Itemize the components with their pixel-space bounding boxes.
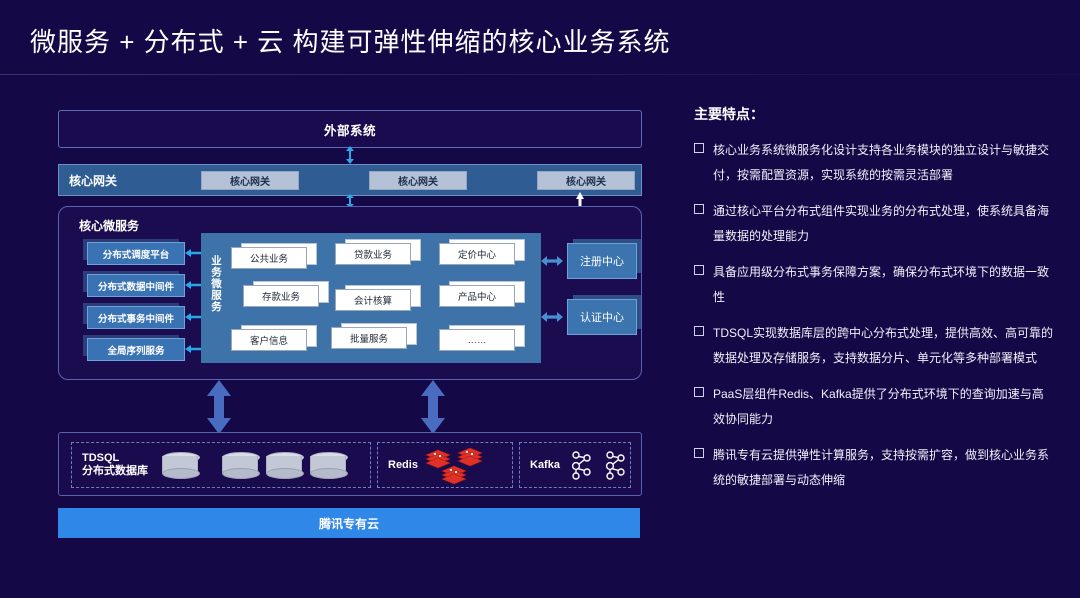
database-cylinders	[162, 452, 346, 478]
architecture-diagram: 外部系统 核心网关 核心网关 核心网关 核心网关 核心微服务 分布式调度平台	[58, 110, 640, 540]
features-title: 主要特点：	[694, 104, 1054, 124]
business-service-label: 贷款业务	[335, 243, 411, 265]
business-service-label: 定价中心	[439, 243, 515, 265]
bullet-square-icon	[694, 387, 704, 397]
tdsql-label-line2: 分布式数据库	[82, 465, 148, 477]
auth-center-card: 认证中心	[567, 299, 635, 333]
feature-item: 通过核心平台分布式组件实现业务的分布式处理，使系统具备海量数据的处理能力	[694, 199, 1054, 249]
external-system-box: 外部系统	[58, 110, 642, 148]
feature-item: TDSQL实现数据库层的跨中心分布式处理，提供高效、高可靠的数据处理及存储服务，…	[694, 321, 1054, 371]
tencent-cloud-bar: 腾讯专有云	[58, 508, 640, 538]
feature-item: 腾讯专有云提供弹性计算服务，支持按需扩容，做到核心业务系统的敏捷部署与动态伸缩	[694, 443, 1054, 493]
business-service-card: 客户信息	[231, 329, 305, 349]
business-service-label: 客户信息	[231, 329, 307, 351]
database-cylinder-icon	[310, 452, 346, 478]
business-service-card: 定价中心	[439, 243, 513, 263]
core-microservice-title: 核心微服务	[79, 217, 139, 234]
core-component-label: 分布式事务中间件	[87, 306, 185, 329]
core-component-label: 分布式调度平台	[87, 242, 185, 265]
bullet-square-icon	[694, 143, 704, 153]
page-title: 微服务 + 分布式 + 云 构建可弹性伸缩的核心业务系统	[30, 22, 671, 59]
core-gateway-title: 核心网关	[69, 172, 143, 189]
business-service-card: 批量服务	[331, 327, 405, 347]
business-microservice-panel: 业务微服务 公共业务 贷款业务 定价中心 存款业务	[201, 233, 541, 363]
bullet-square-icon	[694, 265, 704, 275]
core-component-card: 分布式事务中间件	[83, 303, 179, 324]
registry-center-card: 注册中心	[567, 243, 635, 277]
business-service-card: 会计核算	[335, 289, 409, 309]
database-cylinder-icon	[162, 452, 198, 478]
core-gateway-bar: 核心网关 核心网关 核心网关 核心网关	[58, 164, 642, 196]
feature-text: 通过核心平台分布式组件实现业务的分布式处理，使系统具备海量数据的处理能力	[713, 199, 1054, 249]
feature-text: 腾讯专有云提供弹性计算服务，支持按需扩容，做到核心业务系统的敏捷部署与动态伸缩	[713, 443, 1054, 493]
feature-text: TDSQL实现数据库层的跨中心分布式处理，提供高效、高可靠的数据处理及存储服务，…	[713, 321, 1054, 371]
redis-label: Redis	[388, 459, 418, 472]
registry-center-label: 注册中心	[567, 243, 637, 279]
kafka-logo-icon	[604, 450, 628, 480]
bullet-square-icon	[694, 204, 704, 214]
business-service-card: 公共业务	[231, 247, 305, 267]
gateway-node-3: 核心网关	[537, 171, 635, 190]
data-layer-panel: TDSQL 分布式数据库 Redis	[58, 432, 642, 496]
core-microservice-panel: 核心微服务 分布式调度平台 分布式数据中间件 分布式事务中间件 全局序列服务	[58, 206, 642, 380]
business-service-label: ……	[439, 329, 515, 351]
registry-link-arrow-icon	[541, 254, 563, 266]
redis-logo-icon	[424, 445, 486, 485]
redis-box: Redis	[377, 442, 513, 488]
gateway-node-1: 核心网关	[201, 171, 299, 190]
business-service-card: 产品中心	[439, 285, 513, 305]
core-to-data-arrow-icon	[206, 380, 232, 434]
feature-text: 具备应用级分布式事务保障方案，确保分布式环境下的数据一致性	[713, 260, 1054, 310]
business-service-label: 会计核算	[335, 289, 411, 311]
kafka-logo-group	[570, 450, 628, 480]
business-service-label: 批量服务	[331, 327, 407, 349]
bullet-square-icon	[694, 326, 704, 336]
kafka-label: Kafka	[530, 459, 560, 472]
tdsql-label-line1: TDSQL	[82, 452, 119, 464]
feature-item: PaaS层组件Redis、Kafka提供了分布式环境下的查询加速与高效协同能力	[694, 382, 1054, 432]
auth-link-arrow-icon	[541, 310, 563, 322]
database-cylinder-icon	[266, 452, 302, 478]
core-component-card: 全局序列服务	[83, 335, 179, 356]
feature-item: 具备应用级分布式事务保障方案，确保分布式环境下的数据一致性	[694, 260, 1054, 310]
business-service-label: 存款业务	[243, 285, 319, 307]
business-service-card: 存款业务	[243, 285, 317, 305]
feature-text: PaaS层组件Redis、Kafka提供了分布式环境下的查询加速与高效协同能力	[713, 382, 1054, 432]
kafka-logo-icon	[570, 450, 594, 480]
business-service-card: 贷款业务	[335, 243, 409, 263]
business-service-label: 公共业务	[231, 247, 307, 269]
external-system-label: 外部系统	[324, 120, 376, 139]
features-panel: 主要特点： 核心业务系统微服务化设计支持各业务模块的独立设计与敏捷交付，按需配置…	[694, 104, 1054, 504]
kafka-box: Kafka	[519, 442, 631, 488]
business-microservice-label: 业务微服务	[209, 255, 223, 313]
database-cylinder-icon	[222, 452, 258, 478]
title-divider	[0, 74, 1080, 75]
core-component-label: 分布式数据中间件	[87, 274, 185, 297]
business-service-label: 产品中心	[439, 285, 515, 307]
core-component-card: 分布式调度平台	[83, 239, 179, 260]
core-component-label: 全局序列服务	[87, 338, 185, 361]
core-to-data-arrow-icon	[420, 380, 446, 434]
gateway-node-2: 核心网关	[369, 171, 467, 190]
business-service-card: ……	[439, 329, 513, 349]
business-service-grid: 公共业务 贷款业务 定价中心 存款业务 会计核算	[231, 243, 533, 355]
bullet-square-icon	[694, 448, 704, 458]
feature-item: 核心业务系统微服务化设计支持各业务模块的独立设计与敏捷交付，按需配置资源，实现系…	[694, 138, 1054, 188]
feature-text: 核心业务系统微服务化设计支持各业务模块的独立设计与敏捷交付，按需配置资源，实现系…	[713, 138, 1054, 188]
external-to-gateway-arrow-icon	[345, 146, 355, 164]
tdsql-box: TDSQL 分布式数据库	[71, 442, 371, 488]
auth-center-label: 认证中心	[567, 299, 637, 335]
core-component-card: 分布式数据中间件	[83, 271, 179, 292]
tdsql-label: TDSQL 分布式数据库	[82, 452, 148, 478]
